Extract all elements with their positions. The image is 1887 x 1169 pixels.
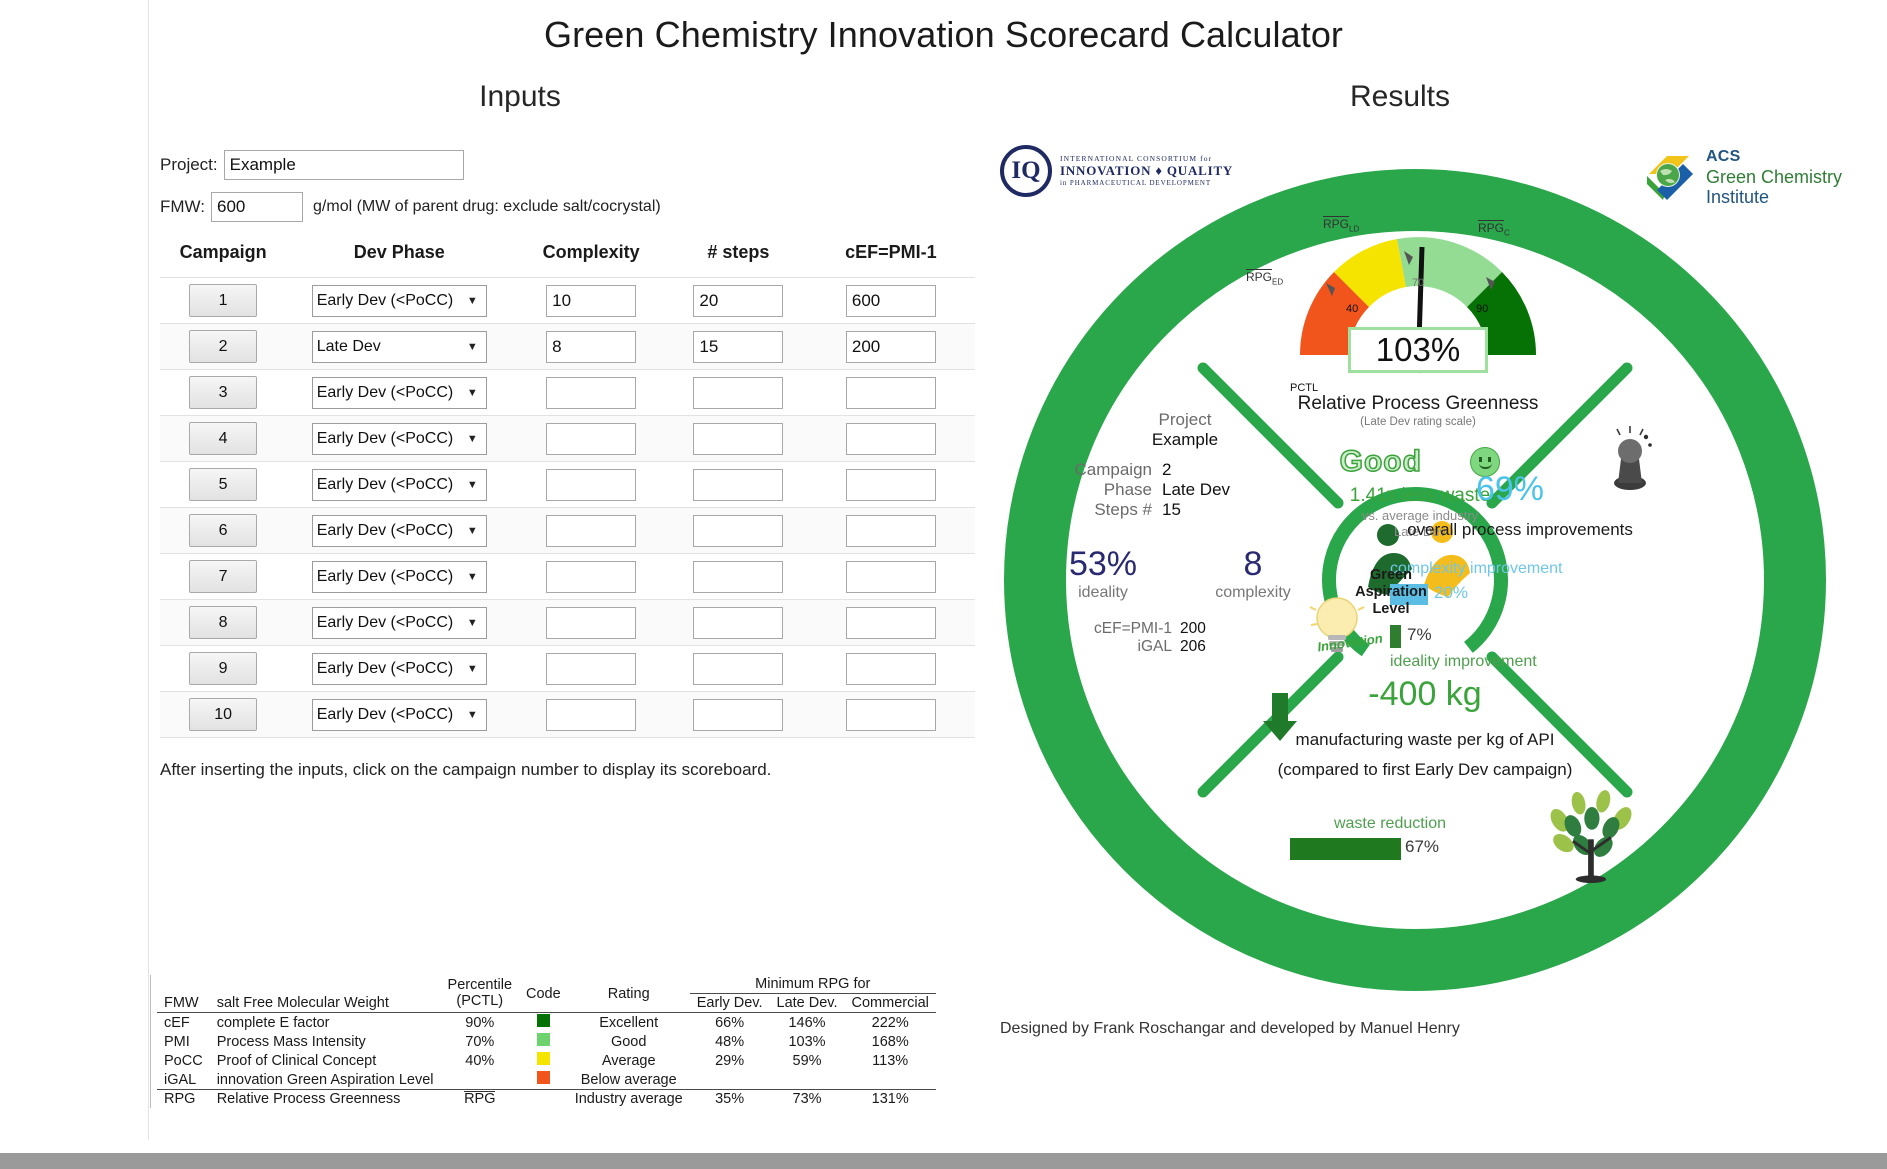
campaign-button-3[interactable]: 3 (189, 376, 257, 409)
cef-input-9[interactable] (846, 653, 936, 685)
cell-complexity (512, 416, 670, 462)
project-status-footnotes: cEF=PMI-1200 iGAL206 (1030, 620, 1320, 656)
cell-steps (670, 554, 807, 600)
rating-word: Good (1340, 445, 1422, 479)
table-header-row: Campaign Dev Phase Complexity # steps cE… (160, 236, 975, 278)
cell-steps (670, 370, 807, 416)
cell-complexity (512, 462, 670, 508)
legend-rating: Average (568, 1051, 690, 1070)
project-label: Project: (160, 155, 218, 175)
results-heading: Results (1080, 80, 1720, 114)
legend-commercial: 222% (845, 1013, 936, 1033)
cell-dev-phase: Early Dev (<PoCC)Late DevCommercial▼ (286, 600, 512, 646)
complexity-input-5[interactable] (546, 469, 636, 501)
cell-dev-phase: Early Dev (<PoCC)Late DevCommercial▼ (286, 646, 512, 692)
steps-input-1[interactable] (693, 285, 783, 317)
legend-abbr: iGAL (157, 1070, 210, 1090)
scorecard-wheel: Performance vs. industry Innovation impa… (990, 155, 1840, 1005)
complexity-input-8[interactable] (546, 607, 636, 639)
steps-input-4[interactable] (693, 423, 783, 455)
complexity-input-10[interactable] (546, 699, 636, 731)
campaign-button-1[interactable]: 1 (189, 284, 257, 317)
gauge-marker-rpg-ed: RPGED (1246, 270, 1283, 286)
cell-dev-phase: Early Dev (<PoCC)Late DevCommercial▼ (286, 462, 512, 508)
cef-input-10[interactable] (846, 699, 936, 731)
legend-row: cEFcomplete E factor90%Excellent66%146%2… (157, 1013, 936, 1033)
legend-desc: Relative Process Greenness (210, 1090, 441, 1109)
cell-cef (807, 462, 975, 508)
page-title: Green Chemistry Innovation Scorecard Cal… (0, 14, 1887, 56)
cell-steps (670, 692, 807, 738)
cell-complexity (512, 600, 670, 646)
legend-panel: Percentile (PCTL) Code Rating Minimum RP… (150, 975, 1010, 1108)
cell-campaign: 7 (160, 554, 286, 600)
cell-complexity (512, 646, 670, 692)
project-field-row: Project: (160, 150, 1000, 180)
cell-dev-phase: Early Dev (<PoCC)Late DevCommercial▼ (286, 278, 512, 324)
cef-row: cEF=PMI-1200 (1030, 620, 1320, 638)
complexity-input-2[interactable] (546, 331, 636, 363)
cell-dev-phase: Early Dev (<PoCC)Late DevCommercial▼ (286, 508, 512, 554)
legend-commercial: 131% (845, 1090, 936, 1109)
steps-input-7[interactable] (693, 561, 783, 593)
complexity-input-3[interactable] (546, 377, 636, 409)
cell-campaign: 6 (160, 508, 286, 554)
col-header-steps: # steps (670, 236, 807, 278)
complexity-input-4[interactable] (546, 423, 636, 455)
cell-cef (807, 600, 975, 646)
inputs-panel: Project: FMW: g/mol (MW of parent drug: … (160, 150, 1000, 780)
cell-cef (807, 508, 975, 554)
gauge-pctl-label: PCTL (1290, 382, 1318, 394)
dev-phase-select-10[interactable]: Early Dev (<PoCC)Late DevCommercial (312, 699, 487, 731)
credits-text: Designed by Frank Roschangar and develop… (1000, 1020, 1460, 1038)
legend-late (770, 1070, 845, 1090)
gauge-marker-rpg-ld: RPGLD (1323, 217, 1359, 233)
ps-row-campaign: Campaign 2 (1040, 460, 1330, 480)
cell-cef (807, 370, 975, 416)
overall-improvement-value: 69% (1420, 470, 1600, 509)
project-status-metrics: 53% ideality 8 complexity (1028, 545, 1328, 602)
table-row: 2Early Dev (<PoCC)Late DevCommercial▼ (160, 324, 975, 370)
table-row: 10Early Dev (<PoCC)Late DevCommercial▼ (160, 692, 975, 738)
inputs-heading: Inputs (200, 80, 840, 114)
cef-input-4[interactable] (846, 423, 936, 455)
table-row: 6Early Dev (<PoCC)Late DevCommercial▼ (160, 508, 975, 554)
cell-campaign: 2 (160, 324, 286, 370)
project-input[interactable] (224, 150, 464, 180)
table-row: 7Early Dev (<PoCC)Late DevCommercial▼ (160, 554, 975, 600)
campaign-button-4[interactable]: 4 (189, 422, 257, 455)
steps-input-8[interactable] (693, 607, 783, 639)
gauge-tick-40: 40 (1346, 303, 1358, 315)
dev-phase-select-8[interactable]: Early Dev (<PoCC)Late DevCommercial (312, 607, 487, 639)
legend-desc: Proof of Clinical Concept (210, 1051, 441, 1070)
legend-early (690, 1070, 770, 1090)
cell-campaign: 10 (160, 692, 286, 738)
gauge-tick-90: 90 (1476, 303, 1488, 315)
cell-steps (670, 462, 807, 508)
steps-input-6[interactable] (693, 515, 783, 547)
campaign-button-6[interactable]: 6 (189, 514, 257, 547)
legend-table: Percentile (PCTL) Code Rating Minimum RP… (157, 975, 936, 1108)
cell-dev-phase: Early Dev (<PoCC)Late DevCommercial▼ (286, 370, 512, 416)
cell-cef (807, 646, 975, 692)
legend-header-early-dev: Early Dev. (690, 994, 770, 1013)
cell-campaign: 5 (160, 462, 286, 508)
legend-code-swatch (519, 1013, 568, 1033)
legend-rating: Below average (568, 1070, 690, 1090)
legend-commercial: 168% (845, 1032, 936, 1051)
campaign-button-7[interactable]: 7 (189, 560, 257, 593)
legend-abbr: PoCC (157, 1051, 210, 1070)
cell-campaign: 1 (160, 278, 286, 324)
dev-phase-select-7[interactable]: Early Dev (<PoCC)Late DevCommercial (312, 561, 487, 593)
gal-center-label: Green Aspiration Level (1326, 567, 1456, 618)
dev-phase-select-4[interactable]: Early Dev (<PoCC)Late DevCommercial (312, 423, 487, 455)
gauge-value: 103% (1348, 327, 1488, 373)
legend-rating: Excellent (568, 1013, 690, 1033)
results-panel: IQ INTERNATIONAL CONSORTIUM for INNOVATI… (980, 140, 1860, 1020)
cell-steps (670, 278, 807, 324)
col-header-cef: cEF=PMI-1 (807, 236, 975, 278)
legend-desc: complete E factor (210, 1013, 441, 1033)
waste-note-line1: manufacturing waste per kg of API (1190, 730, 1660, 750)
ps-row-steps: Steps # 15 (1040, 500, 1330, 520)
complexity-input-6[interactable] (546, 515, 636, 547)
calculator-page: Green Chemistry Innovation Scorecard Cal… (0, 0, 1887, 1169)
legend-header-minimum-rpg: Minimum RPG for (690, 975, 936, 994)
legend-pctl: 90% (441, 1013, 519, 1033)
cell-dev-phase: Early Dev (<PoCC)Late DevCommercial▼ (286, 692, 512, 738)
table-row: 5Early Dev (<PoCC)Late DevCommercial▼ (160, 462, 975, 508)
cef-input-7[interactable] (846, 561, 936, 593)
steps-input-5[interactable] (693, 469, 783, 501)
cell-cef (807, 324, 975, 370)
steps-input-3[interactable] (693, 377, 783, 409)
cell-complexity (512, 692, 670, 738)
igal-row: iGAL206 (1030, 638, 1320, 656)
table-row: 3Early Dev (<PoCC)Late DevCommercial▼ (160, 370, 975, 416)
steps-input-9[interactable] (693, 653, 783, 685)
gauge-overlay: 103% Relative Process Greenness (Late De… (1238, 205, 1598, 445)
table-row: 4Early Dev (<PoCC)Late DevCommercial▼ (160, 416, 975, 462)
fmw-label: FMW: (160, 197, 205, 217)
waste-reduction-label: waste reduction (1270, 815, 1510, 833)
legend-abbr: RPG (157, 1090, 210, 1109)
cell-cef (807, 416, 975, 462)
table-row: 8Early Dev (<PoCC)Late DevCommercial▼ (160, 600, 975, 646)
project-status-project: Project Example (1040, 410, 1330, 450)
cell-complexity (512, 278, 670, 324)
legend-early: 35% (690, 1090, 770, 1109)
dev-phase-select-1[interactable]: Early Dev (<PoCC)Late DevCommercial (312, 285, 487, 317)
legend-late: 59% (770, 1051, 845, 1070)
legend-code-swatch (519, 1032, 568, 1051)
cell-steps (670, 416, 807, 462)
fmw-field-row: FMW: g/mol (MW of parent drug: exclude s… (160, 192, 1000, 222)
campaign-button-10[interactable]: 10 (189, 698, 257, 731)
cef-input-5[interactable] (846, 469, 936, 501)
cell-complexity (512, 554, 670, 600)
cell-cef (807, 554, 975, 600)
cef-input-8[interactable] (846, 607, 936, 639)
legend-header-commercial: Commercial (845, 994, 936, 1013)
complexity-input-9[interactable] (546, 653, 636, 685)
legend-header-rating: Rating (568, 975, 690, 1013)
legend-header-row-1: Percentile (PCTL) Code Rating Minimum RP… (157, 975, 936, 994)
cell-complexity (512, 324, 670, 370)
gauge-tick-70: 70 (1412, 277, 1424, 289)
cell-campaign: 8 (160, 600, 286, 646)
legend-pctl: RPG (441, 1090, 519, 1109)
cef-input-3[interactable] (846, 377, 936, 409)
ideality-metric: 53% ideality (1028, 545, 1178, 602)
cell-campaign: 9 (160, 646, 286, 692)
legend-row: PMIProcess Mass Intensity70%Good48%103%1… (157, 1032, 936, 1051)
dev-phase-select-6[interactable]: Early Dev (<PoCC)Late DevCommercial (312, 515, 487, 547)
overall-improvement-label: overall process improvements (1370, 520, 1670, 540)
page-left-border (148, 0, 149, 1140)
cell-steps (670, 508, 807, 554)
steps-input-2[interactable] (693, 331, 783, 363)
legend-early: 29% (690, 1051, 770, 1070)
legend-header-percentile: Percentile (PCTL) (441, 975, 519, 1013)
legend-rating: Good (568, 1032, 690, 1051)
legend-header-late-dev: Late Dev. (770, 994, 845, 1013)
dev-phase-select-3[interactable]: Early Dev (<PoCC)Late DevCommercial (312, 377, 487, 409)
waste-delta-value: -400 kg (1245, 675, 1605, 714)
project-status-grid: Campaign 2 Phase Late Dev Steps # 15 (1040, 460, 1330, 520)
cell-campaign: 4 (160, 416, 286, 462)
legend-row: iGALinnovation Green Aspiration LevelBel… (157, 1070, 936, 1090)
cef-input-2[interactable] (846, 331, 936, 363)
legend-early: 66% (690, 1013, 770, 1033)
dev-phase-select-2[interactable]: Early Dev (<PoCC)Late DevCommercial (312, 331, 487, 363)
legend-row-industry: RPGRelative Process GreennessRPGIndustry… (157, 1090, 936, 1109)
legend-code-swatch (519, 1051, 568, 1070)
legend-code-swatch (519, 1070, 568, 1090)
complexity-input-7[interactable] (546, 561, 636, 593)
legend-late: 103% (770, 1032, 845, 1051)
campaign-input-table: Campaign Dev Phase Complexity # steps cE… (160, 236, 975, 738)
legend-desc: Process Mass Intensity (210, 1032, 441, 1051)
complexity-input-1[interactable] (546, 285, 636, 317)
ideality-improvement-label: ideality improvement (1390, 653, 1537, 671)
legend-late: 73% (770, 1090, 845, 1109)
legend-commercial: 113% (845, 1051, 936, 1070)
cell-steps (670, 646, 807, 692)
cef-input-6[interactable] (846, 515, 936, 547)
complexity-metric: 8 complexity (1178, 545, 1328, 602)
steps-input-10[interactable] (693, 699, 783, 731)
cell-dev-phase: Early Dev (<PoCC)Late DevCommercial▼ (286, 324, 512, 370)
innovation-head-icon (1614, 426, 1652, 490)
col-header-dev-phase: Dev Phase (286, 236, 512, 278)
legend-pctl: 40% (441, 1051, 519, 1070)
dev-phase-select-5[interactable]: Early Dev (<PoCC)Late DevCommercial (312, 469, 487, 501)
cell-dev-phase: Early Dev (<PoCC)Late DevCommercial▼ (286, 416, 512, 462)
col-header-campaign: Campaign (160, 236, 286, 278)
col-header-complexity: Complexity (512, 236, 670, 278)
legend-early: 48% (690, 1032, 770, 1051)
legend-late: 146% (770, 1013, 845, 1033)
legend-row: PoCCProof of Clinical Concept40%Average2… (157, 1051, 936, 1070)
legend-pctl: 70% (441, 1032, 519, 1051)
table-row: 1Early Dev (<PoCC)Late DevCommercial▼ (160, 278, 975, 324)
campaign-button-5[interactable]: 5 (189, 468, 257, 501)
horizontal-scrollbar[interactable] (0, 1153, 1887, 1169)
cell-complexity (512, 370, 670, 416)
fmw-input[interactable] (211, 192, 303, 222)
legend-rating: Industry average (568, 1090, 690, 1109)
inputs-hint: After inserting the inputs, click on the… (160, 760, 1000, 780)
dev-phase-select-9[interactable]: Early Dev (<PoCC)Late DevCommercial (312, 653, 487, 685)
legend-desc: innovation Green Aspiration Level (210, 1070, 441, 1090)
legend-abbr-0: FMW (157, 994, 210, 1013)
cell-campaign: 3 (160, 370, 286, 416)
legend-commercial (845, 1070, 936, 1090)
legend-header-code: Code (519, 975, 568, 1013)
campaign-button-2[interactable]: 2 (189, 330, 257, 363)
campaign-button-9[interactable]: 9 (189, 652, 257, 685)
cell-steps (670, 324, 807, 370)
cef-input-1[interactable] (846, 285, 936, 317)
waste-reduction-value: 67% (1405, 837, 1439, 857)
ideality-improvement-value: 7% (1407, 625, 1432, 645)
legend-desc-0: salt Free Molecular Weight (210, 994, 441, 1013)
legend-abbr: PMI (157, 1032, 210, 1051)
campaign-button-8[interactable]: 8 (189, 606, 257, 639)
fmw-units-note: g/mol (MW of parent drug: exclude salt/c… (313, 198, 661, 216)
legend-abbr: cEF (157, 1013, 210, 1033)
gauge-marker-rpg-c: RPGC (1478, 221, 1510, 237)
legend-pctl (441, 1070, 519, 1090)
cell-complexity (512, 508, 670, 554)
table-row: 9Early Dev (<PoCC)Late DevCommercial▼ (160, 646, 975, 692)
ps-row-phase: Phase Late Dev (1040, 480, 1330, 500)
waste-reduction-bar (1290, 838, 1401, 860)
cell-cef (807, 278, 975, 324)
waste-note-line2: (compared to first Early Dev campaign) (1190, 760, 1660, 780)
cell-steps (670, 600, 807, 646)
cell-cef (807, 692, 975, 738)
cell-dev-phase: Early Dev (<PoCC)Late DevCommercial▼ (286, 554, 512, 600)
